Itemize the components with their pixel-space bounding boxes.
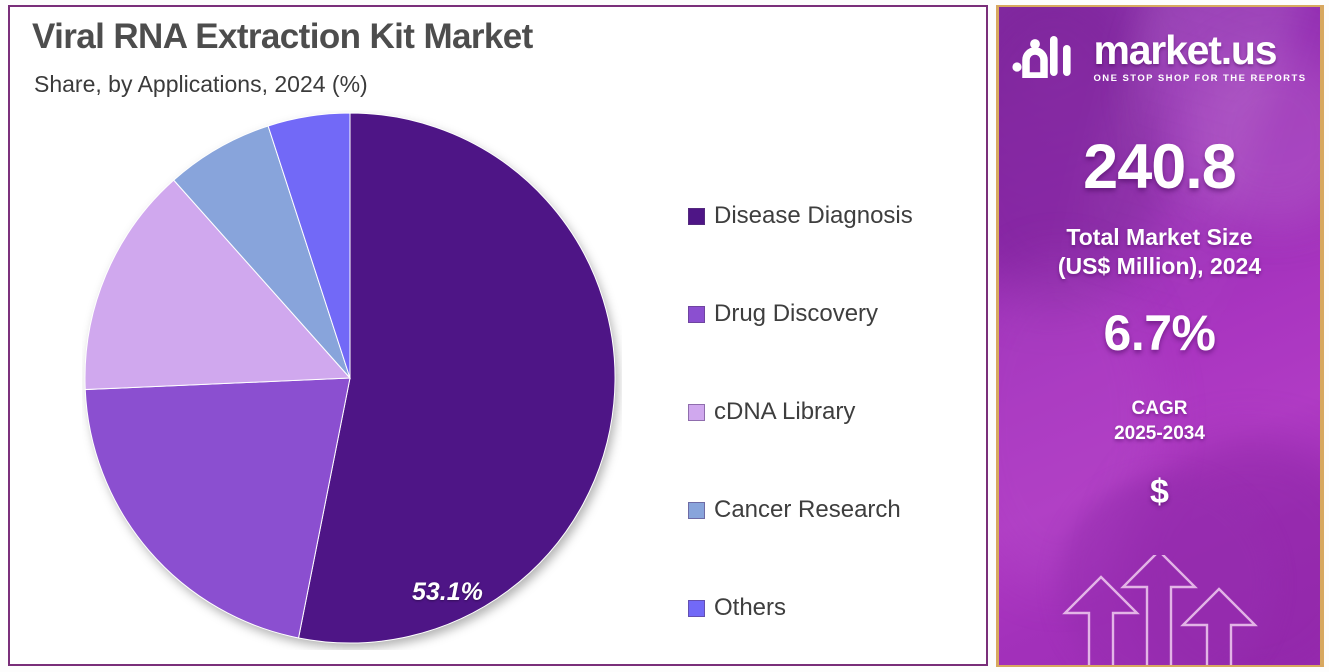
- legend-item-drug-discovery[interactable]: Drug Discovery: [688, 265, 978, 363]
- upward-arrow-icon-group: [1051, 555, 1281, 667]
- legend-item-cdna-library[interactable]: cDNA Library: [688, 363, 978, 461]
- caption-line-1: Total Market Size: [1066, 224, 1252, 250]
- chart-legend: Disease Diagnosis Drug Discovery cDNA Li…: [688, 167, 978, 657]
- upward-arrow-icon: [1183, 589, 1255, 667]
- brand-logo[interactable]: market.us ONE STOP SHOP FOR THE REPORTS: [999, 31, 1320, 84]
- legend-item-label: cDNA Library: [714, 400, 855, 424]
- page-title: Viral RNA Extraction Kit Market: [32, 17, 533, 57]
- legend-item-cancer-research[interactable]: Cancer Research: [688, 461, 978, 559]
- total-market-size-value: 240.8: [999, 131, 1320, 203]
- legend-swatch-icon: [688, 502, 705, 519]
- caption-line-2: 2025-2034: [1114, 423, 1205, 444]
- cagr-value: 6.7%: [999, 304, 1320, 362]
- legend-item-label: Drug Discovery: [714, 302, 878, 326]
- pie-chart: 53.1%: [82, 110, 622, 650]
- legend-swatch-icon: [688, 208, 705, 225]
- brand-name: market.us: [1093, 31, 1306, 70]
- legend-item-label: Cancer Research: [714, 498, 901, 522]
- legend-swatch-icon: [688, 600, 705, 617]
- pie-slice-group: [85, 113, 615, 643]
- brand-tagline: ONE STOP SHOP FOR THE REPORTS: [1093, 73, 1306, 84]
- caption-line-2: (US$ Million), 2024: [1058, 253, 1261, 279]
- legend-swatch-icon: [688, 306, 705, 323]
- pie-slice-data-label: 53.1%: [412, 578, 483, 607]
- screenshot-root: Viral RNA Extraction Kit Market Share, b…: [0, 0, 1329, 672]
- chart-card: Viral RNA Extraction Kit Market Share, b…: [8, 5, 988, 666]
- caption-line-1: CAGR: [1132, 398, 1188, 419]
- legend-item-label: Disease Diagnosis: [714, 204, 913, 228]
- upward-arrow-icon: [1065, 577, 1137, 667]
- brand-logo-text: market.us ONE STOP SHOP FOR THE REPORTS: [1093, 31, 1306, 84]
- legend-item-disease-diagnosis[interactable]: Disease Diagnosis: [688, 167, 978, 265]
- legend-item-others[interactable]: Others: [688, 559, 978, 657]
- market-us-logo-icon: [1012, 34, 1084, 78]
- chart-subtitle: Share, by Applications, 2024 (%): [34, 71, 368, 98]
- legend-swatch-icon: [688, 404, 705, 421]
- total-market-size-caption: Total Market Size (US$ Million), 2024: [999, 223, 1320, 281]
- cagr-caption: CAGR 2025-2034: [999, 397, 1320, 446]
- dollar-sign-icon: $: [999, 473, 1320, 512]
- legend-item-label: Others: [714, 596, 786, 620]
- market-us-info-panel: market.us ONE STOP SHOP FOR THE REPORTS …: [996, 5, 1324, 667]
